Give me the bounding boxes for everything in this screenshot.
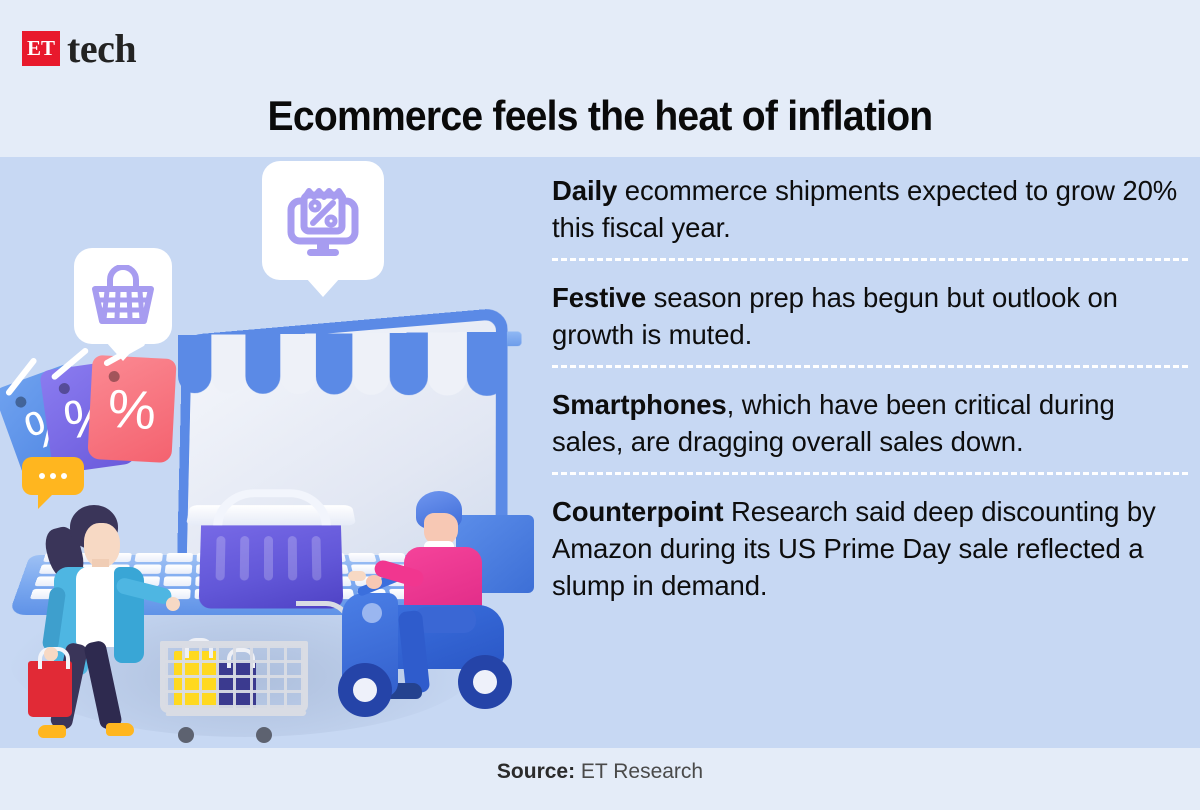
monitor-discount-icon xyxy=(283,181,363,261)
shopping-basket-icon xyxy=(90,265,156,327)
page-title: Ecommerce feels the heat of inflation xyxy=(42,92,1158,140)
chat-dots-bubble xyxy=(22,457,84,495)
dot-icon xyxy=(39,473,45,479)
awning-scallop xyxy=(428,332,467,395)
et-logo-mark: ET xyxy=(22,31,60,66)
awning-scallop xyxy=(316,333,352,394)
dot-icon xyxy=(61,473,67,479)
fact-body-1: ecommerce shipments expected to grow 20%… xyxy=(552,175,1177,243)
shopping-basket-3d xyxy=(199,515,344,608)
source-value: ET Research xyxy=(575,760,703,783)
shoe-front xyxy=(106,723,134,736)
fact-lead-4: Counterpoint xyxy=(552,496,723,527)
rider-hand xyxy=(366,575,382,589)
woman-shopper xyxy=(18,505,168,745)
delivery-rider-scooter xyxy=(340,487,540,747)
red-shopping-bag xyxy=(28,661,72,717)
awning-scallop xyxy=(211,334,245,393)
hand-back xyxy=(44,647,58,661)
infographic-page: ET tech Ecommerce feels the heat of infl… xyxy=(0,0,1200,810)
dot-icon xyxy=(50,473,56,479)
ecommerce-illustration: % % % xyxy=(0,157,540,748)
scooter-grip xyxy=(348,571,366,581)
fact-lead-2: Festive xyxy=(552,282,646,313)
bubble-monitor-discount xyxy=(262,161,384,280)
fact-item-3: Smartphones, which have been critical du… xyxy=(552,368,1192,472)
trolley-frame-bar xyxy=(165,711,307,716)
source-line: Source: ET Research xyxy=(0,760,1200,784)
awning-scallop xyxy=(352,333,389,395)
source-label: Source: xyxy=(497,760,575,783)
bubble-shopping-basket xyxy=(74,248,172,344)
trolley-basket xyxy=(160,641,308,713)
storefront-awning xyxy=(178,332,521,399)
fact-item-4: Counterpoint Research said deep discount… xyxy=(552,475,1192,604)
fact-lead-3: Smartphones xyxy=(552,389,727,420)
price-tag-coral: % xyxy=(87,355,176,463)
shopping-trolley xyxy=(150,599,365,744)
scooter-rear-wheel xyxy=(458,655,512,709)
fact-item-1: Daily ecommerce shipments expected to gr… xyxy=(552,172,1192,258)
awning-scallop xyxy=(178,335,211,394)
shoe-back xyxy=(38,725,66,738)
tech-logo-wordmark: tech xyxy=(67,29,136,69)
facts-list: Daily ecommerce shipments expected to gr… xyxy=(552,172,1192,604)
awning-scallop xyxy=(390,333,428,396)
fact-lead-1: Daily xyxy=(552,175,617,206)
et-tech-logo: ET tech xyxy=(22,28,136,68)
trolley-wheel xyxy=(256,727,272,743)
fact-item-2: Festive season prep has begun but outloo… xyxy=(552,261,1192,365)
percent-symbol: % xyxy=(89,381,176,439)
awning-scallop xyxy=(245,334,280,394)
awning-scallop xyxy=(467,332,507,396)
awning-scallop xyxy=(280,334,316,395)
scooter-front-wheel xyxy=(338,663,392,717)
scooter-headlight xyxy=(362,603,382,623)
trolley-wheel xyxy=(178,727,194,743)
